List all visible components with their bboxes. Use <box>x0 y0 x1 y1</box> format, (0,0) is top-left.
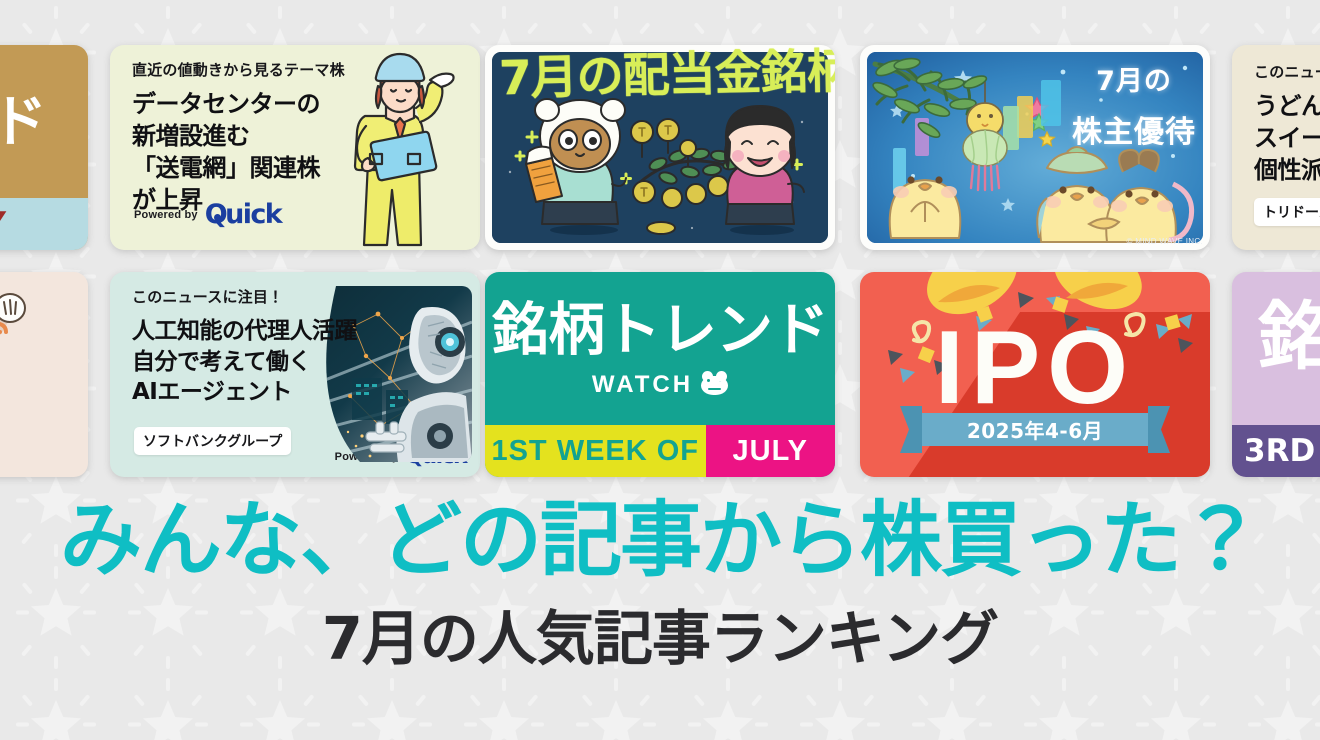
headline-line-1: 人工知能の代理人活躍 <box>132 316 460 347</box>
card-worker-beige-partial[interactable] <box>0 272 88 477</box>
card-ipo[interactable]: IPO 2025年4-6月 <box>860 272 1210 477</box>
headline-line-2: スイーツ <box>1254 123 1320 155</box>
frog-icon <box>701 376 728 395</box>
headline-line-3: AIエージェント <box>132 377 460 408</box>
card-udon-headline: うどんで スイーツ 個性派商 <box>1254 91 1320 187</box>
card-ai-badge-wrap: ソフトバンクグループ <box>134 427 291 455</box>
card-datacenter-headline: データセンターの 新増設進む 「送電網」関連株 が上昇 <box>132 89 460 217</box>
card-watch-week-label: 1ST WEEK OF <box>491 435 699 468</box>
card-udon-kicker: このニュース <box>1254 65 1320 80</box>
headline-line-3: 個性派商 <box>1254 155 1320 187</box>
card-dividend-title: 7月の配当金銘柄 <box>499 48 828 104</box>
card-row-1: ンド JULY 直近の値動きから見るテーマ株 データセンターの 新増設進む 「送… <box>0 45 1320 250</box>
card-watch-sub: WATCH <box>592 371 728 399</box>
card-watch-strip-right: JULY <box>706 425 836 477</box>
card-watch-strip-left: 1ST WEEK OF <box>485 425 706 477</box>
headline-line-2: 新増設進む <box>132 121 460 153</box>
card-udon-sweets-partial[interactable]: このニュース うどんで スイーツ 個性派商 トリドールH <box>1232 45 1320 250</box>
card-ipo-title: IPO <box>860 316 1210 420</box>
page-subtitle: 7月の人気記事ランキング <box>0 609 1320 668</box>
card-ipo-ribbon: 2025年4-6月 <box>922 413 1148 446</box>
card-meigara-purple-partial[interactable]: 銘 3RD W <box>1232 272 1320 477</box>
headline-line-3: 「送電網」関連株 <box>132 153 460 185</box>
card-yutai-copyright: © MIND WAVE INC. <box>1127 237 1203 246</box>
card-datacenter-article[interactable]: 直近の値動きから見るテーマ株 データセンターの 新増設進む 「送電網」関連株 が… <box>110 45 480 250</box>
page-stage: ンド JULY 直近の値動きから見るテーマ株 データセンターの 新増設進む 「送… <box>0 0 1320 740</box>
card-dividend-july[interactable]: 7月の配当金銘柄 <box>485 45 835 250</box>
card-watch-jp-title: 銘柄トレンド <box>492 302 828 359</box>
headline-block: みんな、どの記事から株買った？ 7月の人気記事ランキング <box>0 500 1320 668</box>
card-watch-main: 銘柄トレンド WATCH <box>485 272 835 425</box>
card-yutai-title: 7月の 株主優待 <box>1072 59 1196 151</box>
card-trend-gold-strip: JULY <box>0 198 88 250</box>
card-watch-strip: 1ST WEEK OF JULY <box>485 425 835 477</box>
card-purple-week-label: 3RD W <box>1244 433 1320 469</box>
card-udon-company-badge: トリドールH <box>1254 198 1320 226</box>
card-trend-gold-jp: ンド <box>0 77 46 158</box>
headline-line-4: が上昇 <box>132 185 460 217</box>
page-title: みんな、どの記事から株買った？ <box>0 500 1320 582</box>
card-row-2: このニュースに注目！ 人工知能の代理人活躍 自分で考えて働く AIエージェント … <box>0 272 1320 477</box>
card-trend-gold-month: JULY <box>0 206 6 242</box>
card-purple-strip: 3RD W <box>1232 425 1320 477</box>
card-ai-agent-article[interactable]: このニュースに注目！ 人工知能の代理人活躍 自分で考えて働く AIエージェント … <box>110 272 480 477</box>
card-meigara-trend-watch[interactable]: 銘柄トレンド WATCH 1ST WEEK OF JULY <box>485 272 835 477</box>
card-ai-company-badge: ソフトバンクグループ <box>134 427 291 455</box>
card-ai-headline: 人工知能の代理人活躍 自分で考えて働く AIエージェント <box>132 316 460 408</box>
card-ipo-period: 2025年4-6月 <box>967 415 1103 444</box>
card-watch-month-label: JULY <box>733 435 808 468</box>
cheering-worker-illustration <box>0 280 54 477</box>
card-purple-jp: 銘 <box>1258 300 1320 374</box>
card-yutai-title-line2: 株主優待 <box>1072 107 1196 151</box>
headline-line-1: うどんで <box>1254 91 1320 123</box>
card-udon-badge-wrap: トリドールH <box>1254 198 1320 226</box>
headline-line-2: 自分で考えて働く <box>132 347 460 378</box>
card-yutai-title-line1: 7月の <box>1072 59 1196 98</box>
card-trend-gold-partial[interactable]: ンド JULY <box>0 45 88 250</box>
card-shareholder-benefit-july[interactable]: 7月の 株主優待 © MIND WAVE INC. <box>860 45 1210 250</box>
headline-line-1: データセンターの <box>132 89 460 121</box>
card-watch-watch-label: WATCH <box>592 371 693 399</box>
